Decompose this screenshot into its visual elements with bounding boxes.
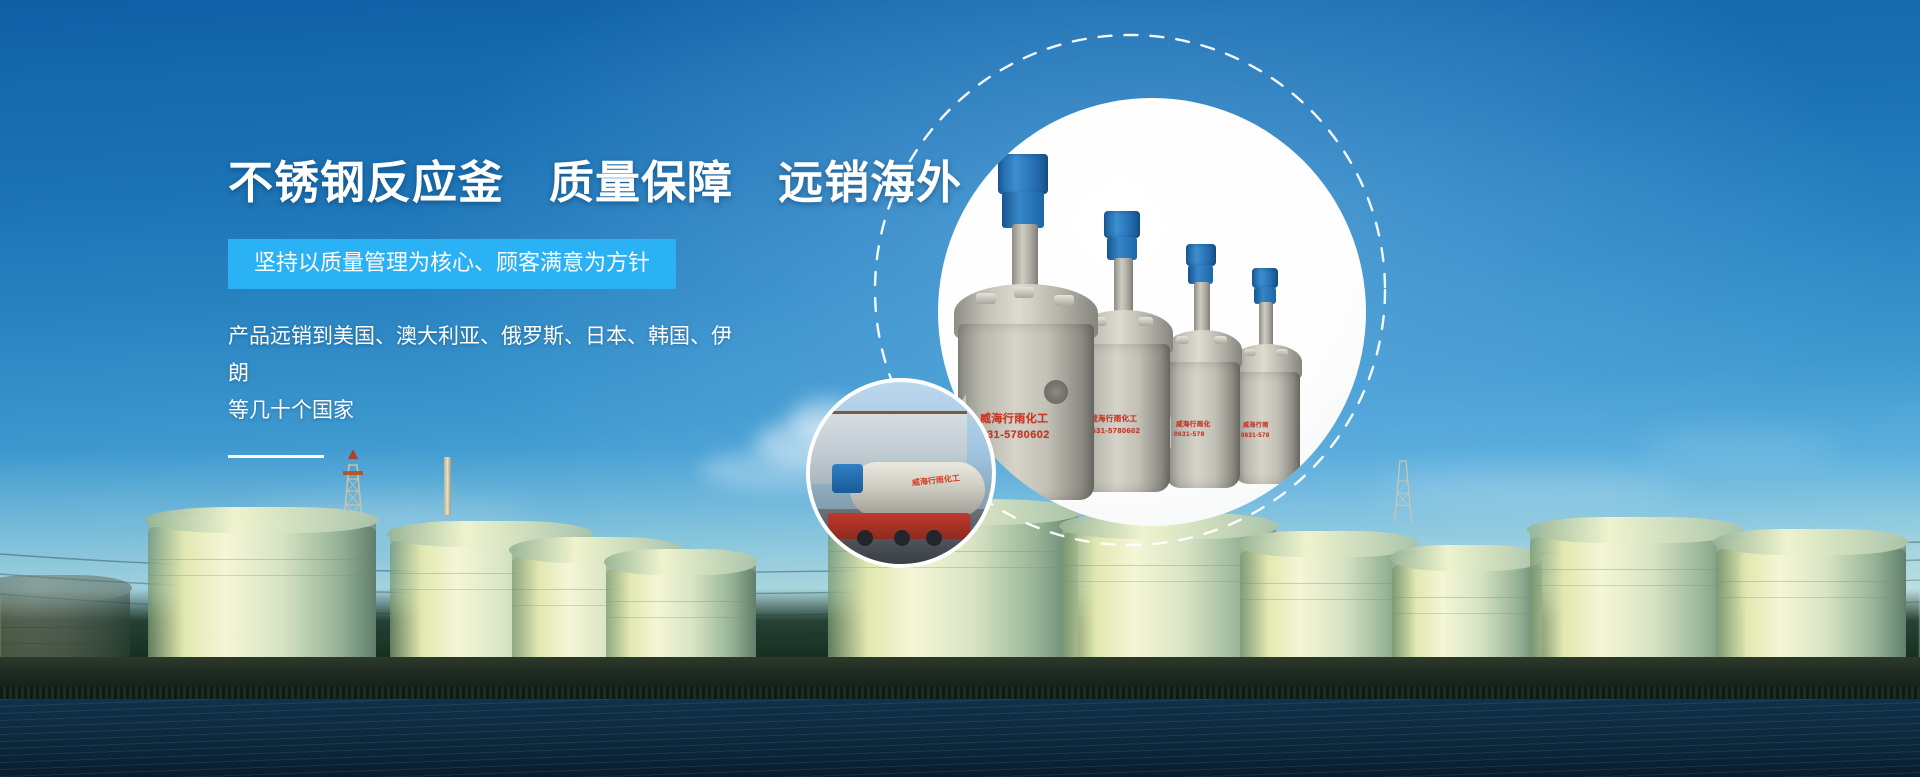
headline-part-2: 质量保障 bbox=[549, 160, 733, 205]
reactor-vessel: 威海行雨化 0631-578 bbox=[1166, 230, 1240, 488]
storage-tank bbox=[1530, 527, 1740, 659]
storage-tank bbox=[0, 585, 130, 659]
reactor-vessel: 威海行雨 0631-578 bbox=[1234, 254, 1300, 484]
vessel-company-text: 威海行雨 bbox=[1243, 423, 1269, 430]
vessel-port bbox=[1044, 380, 1068, 404]
vessel-phone-text: 0631-5780602 bbox=[1087, 427, 1140, 436]
vessel-motor bbox=[832, 464, 863, 493]
hero-banner: 威海行雨 0631-578 威海行雨化 0631-578 威海行 bbox=[0, 0, 1920, 777]
harbor-water bbox=[0, 699, 1920, 777]
description-text: 产品远销到美国、澳大利亚、俄罗斯、日本、韩国、伊朗 等几十个国家 bbox=[228, 319, 738, 429]
vessel-company-text: 威海行雨化 bbox=[1176, 421, 1211, 428]
horizontal-vessel bbox=[850, 462, 985, 517]
storage-tank bbox=[1716, 539, 1906, 659]
vessel-company-text: 威海行雨化工 bbox=[980, 413, 1048, 426]
vessel-phone-text: 0631-578 bbox=[1174, 431, 1205, 438]
product-photo-circle: 威海行雨 0631-578 威海行雨化 0631-578 威海行 bbox=[938, 98, 1366, 526]
headline-part-3: 远销海外 bbox=[778, 160, 962, 205]
quay-wall bbox=[0, 657, 1920, 689]
subtitle-highlight-bar: 坚持以质量管理为核心、顾客满意为方针 bbox=[228, 239, 676, 289]
description-line-2: 等几十个国家 bbox=[228, 399, 354, 422]
storage-tank bbox=[1392, 555, 1542, 659]
headline-part-1: 不锈钢反应釜 bbox=[228, 160, 504, 205]
vessel-phone-text: 0631-578 bbox=[1241, 433, 1270, 440]
description-line-1: 产品远销到美国、澳大利亚、俄罗斯、日本、韩国、伊朗 bbox=[228, 325, 732, 385]
storage-tank bbox=[148, 517, 376, 659]
banner-copy: 不锈钢反应釜 质量保障 远销海外 坚持以质量管理为核心、顾客满意为方针 产品远销… bbox=[228, 160, 848, 458]
divider-rule bbox=[228, 455, 324, 458]
page-title: 不锈钢反应釜 质量保障 远销海外 bbox=[228, 160, 848, 205]
vessel-company-text: 威海行雨化工 bbox=[1090, 415, 1137, 424]
storage-tank bbox=[606, 559, 756, 659]
